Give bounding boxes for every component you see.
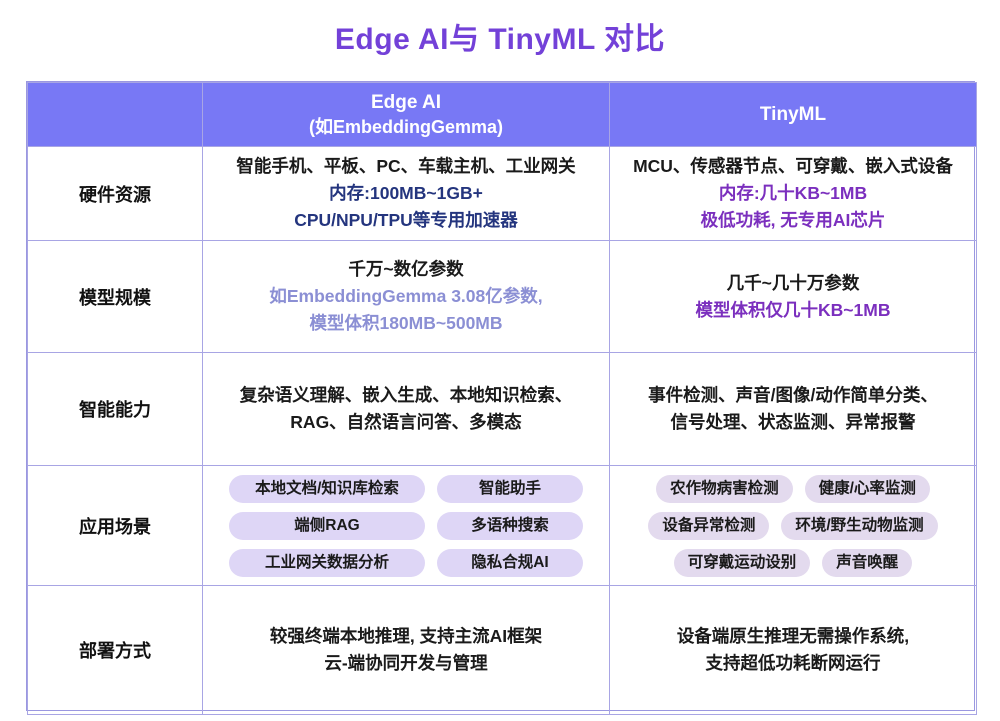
- row-label: 智能能力: [28, 353, 203, 466]
- tiny-tag[interactable]: 可穿戴运动设别: [674, 549, 811, 577]
- tiny-line: 支持超低功耗断网运行: [618, 650, 968, 677]
- cell-tinyml: 几千~几十万参数模型体积仅几十KB~1MB: [610, 241, 977, 353]
- edge-tag-group: 本地文档/知识库检索智能助手端侧RAG多语种搜索工业网关数据分析隐私合规AI: [211, 473, 601, 579]
- header-edge-title: Edge AI: [371, 92, 441, 113]
- table-row: 应用场景本地文档/知识库检索智能助手端侧RAG多语种搜索工业网关数据分析隐私合规…: [28, 466, 977, 586]
- comparison-table: Edge AI (如EmbeddingGemma) TinyML 硬件资源智能手…: [27, 82, 977, 715]
- edge-line: 智能手机、平板、PC、车载主机、工业网关: [211, 153, 601, 180]
- tiny-line: 极低功耗, 无专用AI芯片: [618, 207, 968, 234]
- edge-line: CPU/NPU/TPU等专用加速器: [211, 207, 601, 234]
- table-row: 模型规模千万~数亿参数如EmbeddingGemma 3.08亿参数,模型体积1…: [28, 241, 977, 353]
- table-row: 智能能力复杂语义理解、嵌入生成、本地知识检索、RAG、自然语言问答、多模态事件检…: [28, 353, 977, 466]
- edge-tag[interactable]: 隐私合规AI: [437, 549, 583, 577]
- cell-edge-ai: 智能手机、平板、PC、车载主机、工业网关内存:100MB~1GB+CPU/NPU…: [203, 147, 610, 241]
- cell-tinyml: 设备端原生推理无需操作系统,支持超低功耗断网运行: [610, 586, 977, 715]
- tiny-tag[interactable]: 声音唤醒: [822, 549, 912, 577]
- row-label: 部署方式: [28, 586, 203, 715]
- cell-edge-ai: 千万~数亿参数如EmbeddingGemma 3.08亿参数,模型体积180MB…: [203, 241, 610, 353]
- header-edge-subtitle: (如EmbeddingGemma): [211, 115, 601, 139]
- tiny-cell-content: MCU、传感器节点、可穿戴、嵌入式设备内存:几十KB~1MB极低功耗, 无专用A…: [618, 153, 968, 234]
- table-row: 硬件资源智能手机、平板、PC、车载主机、工业网关内存:100MB~1GB+CPU…: [28, 147, 977, 241]
- edge-cell-content: 复杂语义理解、嵌入生成、本地知识检索、RAG、自然语言问答、多模态: [211, 382, 601, 436]
- edge-tag[interactable]: 本地文档/知识库检索: [229, 475, 425, 503]
- tiny-tag[interactable]: 设备异常检测: [648, 512, 769, 540]
- header-cell-blank: [28, 83, 203, 147]
- edge-line: 模型体积180MB~500MB: [211, 310, 601, 337]
- cell-edge-ai: 较强终端本地推理, 支持主流AI框架云-端协同开发与管理: [203, 586, 610, 715]
- tiny-line: 几千~几十万参数: [618, 270, 968, 297]
- tiny-cell-content: 几千~几十万参数模型体积仅几十KB~1MB: [618, 270, 968, 324]
- table-header: Edge AI (如EmbeddingGemma) TinyML: [28, 83, 977, 147]
- edge-tag[interactable]: 工业网关数据分析: [229, 549, 425, 577]
- tiny-line: 模型体积仅几十KB~1MB: [618, 297, 968, 324]
- header-cell-tinyml: TinyML: [610, 83, 977, 147]
- edge-line: 复杂语义理解、嵌入生成、本地知识检索、: [211, 382, 601, 409]
- table-body: 硬件资源智能手机、平板、PC、车载主机、工业网关内存:100MB~1GB+CPU…: [28, 147, 977, 715]
- tiny-tag[interactable]: 健康/心率监测: [805, 475, 930, 503]
- cell-tinyml: 事件检测、声音/图像/动作简单分类、信号处理、状态监测、异常报警: [610, 353, 977, 466]
- header-cell-edge-ai: Edge AI (如EmbeddingGemma): [203, 83, 610, 147]
- tiny-tag[interactable]: 环境/野生动物监测: [781, 512, 937, 540]
- row-label: 硬件资源: [28, 147, 203, 241]
- tiny-line: 事件检测、声音/图像/动作简单分类、: [618, 382, 968, 409]
- row-label: 模型规模: [28, 241, 203, 353]
- edge-line: 如EmbeddingGemma 3.08亿参数,: [211, 283, 601, 310]
- edge-line: 千万~数亿参数: [211, 256, 601, 283]
- cell-tinyml: MCU、传感器节点、可穿戴、嵌入式设备内存:几十KB~1MB极低功耗, 无专用A…: [610, 147, 977, 241]
- tiny-line: 设备端原生推理无需操作系统,: [618, 623, 968, 650]
- table-row: 部署方式较强终端本地推理, 支持主流AI框架云-端协同开发与管理设备端原生推理无…: [28, 586, 977, 715]
- cell-edge-ai: 复杂语义理解、嵌入生成、本地知识检索、RAG、自然语言问答、多模态: [203, 353, 610, 466]
- tiny-tag[interactable]: 农作物病害检测: [656, 475, 793, 503]
- edge-tag[interactable]: 端侧RAG: [229, 512, 425, 540]
- tiny-cell-content: 设备端原生推理无需操作系统,支持超低功耗断网运行: [618, 623, 968, 677]
- tiny-line: 信号处理、状态监测、异常报警: [618, 409, 968, 436]
- page-title: Edge AI与 TinyML 对比: [0, 0, 1000, 62]
- edge-line: 云-端协同开发与管理: [211, 650, 601, 677]
- edge-line: RAG、自然语言问答、多模态: [211, 409, 601, 436]
- comparison-table-container: Edge AI (如EmbeddingGemma) TinyML 硬件资源智能手…: [26, 81, 975, 711]
- cell-edge-ai: 本地文档/知识库检索智能助手端侧RAG多语种搜索工业网关数据分析隐私合规AI: [203, 466, 610, 586]
- header-row: Edge AI (如EmbeddingGemma) TinyML: [28, 83, 977, 147]
- edge-line: 内存:100MB~1GB+: [211, 180, 601, 207]
- edge-tag[interactable]: 智能助手: [437, 475, 583, 503]
- tiny-tag-group: 农作物病害检测健康/心率监测设备异常检测环境/野生动物监测可穿戴运动设别声音唤醒: [618, 473, 968, 579]
- edge-cell-content: 较强终端本地推理, 支持主流AI框架云-端协同开发与管理: [211, 623, 601, 677]
- tiny-cell-content: 事件检测、声音/图像/动作简单分类、信号处理、状态监测、异常报警: [618, 382, 968, 436]
- edge-cell-content: 智能手机、平板、PC、车载主机、工业网关内存:100MB~1GB+CPU/NPU…: [211, 153, 601, 234]
- edge-tag[interactable]: 多语种搜索: [437, 512, 583, 540]
- tiny-line: MCU、传感器节点、可穿戴、嵌入式设备: [618, 153, 968, 180]
- cell-tinyml: 农作物病害检测健康/心率监测设备异常检测环境/野生动物监测可穿戴运动设别声音唤醒: [610, 466, 977, 586]
- edge-cell-content: 千万~数亿参数如EmbeddingGemma 3.08亿参数,模型体积180MB…: [211, 256, 601, 337]
- tiny-line: 内存:几十KB~1MB: [618, 180, 968, 207]
- row-label: 应用场景: [28, 466, 203, 586]
- edge-line: 较强终端本地推理, 支持主流AI框架: [211, 623, 601, 650]
